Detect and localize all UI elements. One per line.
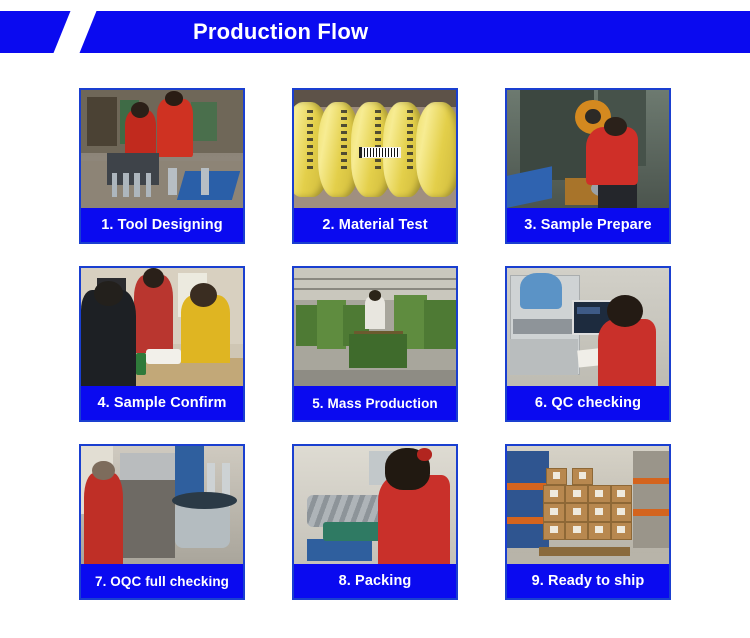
scene-sample-prepare xyxy=(507,90,669,212)
scene-ready-to-ship xyxy=(507,446,669,568)
step-caption-5: 5. Mass Production xyxy=(294,386,456,420)
step-card-8[interactable]: 8. Packing xyxy=(292,444,458,600)
step-card-7[interactable]: 7. OQC full checking xyxy=(79,444,245,600)
step-card-3[interactable]: 3. Sample Prepare xyxy=(505,88,671,244)
page-header: Production Flow xyxy=(0,11,750,53)
step-card-4[interactable]: 4. Sample Confirm xyxy=(79,266,245,422)
scene-packing xyxy=(294,446,456,568)
page-title: Production Flow xyxy=(193,11,368,53)
header-blue-bar xyxy=(0,11,750,53)
step-card-2[interactable]: 2. Material Test xyxy=(292,88,458,244)
step-caption-8: 8. Packing xyxy=(294,564,456,598)
step-card-6[interactable]: 6. QC checking xyxy=(505,266,671,422)
step-caption-1: 1. Tool Designing xyxy=(81,208,243,242)
step-caption-3: 3. Sample Prepare xyxy=(507,208,669,242)
scene-mass-production xyxy=(294,268,456,390)
step-photo-3 xyxy=(507,90,669,212)
step-photo-2 xyxy=(294,90,456,212)
step-caption-4: 4. Sample Confirm xyxy=(81,386,243,420)
step-photo-5 xyxy=(294,268,456,390)
step-caption-7: 7. OQC full checking xyxy=(81,564,243,598)
step-photo-4 xyxy=(81,268,243,390)
scene-sample-confirm xyxy=(81,268,243,390)
scene-oqc-full-checking xyxy=(81,446,243,568)
step-photo-9 xyxy=(507,446,669,568)
step-caption-9: 9. Ready to ship xyxy=(507,564,669,598)
scene-material-test xyxy=(294,90,456,212)
step-card-1[interactable]: 1. Tool Designing xyxy=(79,88,245,244)
step-photo-1 xyxy=(81,90,243,212)
step-photo-6 xyxy=(507,268,669,390)
step-caption-6: 6. QC checking xyxy=(507,386,669,420)
step-card-5[interactable]: 5. Mass Production xyxy=(292,266,458,422)
step-photo-7 xyxy=(81,446,243,568)
production-flow-grid: 1. Tool Designing 2. Material Test xyxy=(0,88,750,600)
scene-qc-checking xyxy=(507,268,669,390)
scene-tool-designing xyxy=(81,90,243,212)
step-card-9[interactable]: 9. Ready to ship xyxy=(505,444,671,600)
step-caption-2: 2. Material Test xyxy=(294,208,456,242)
step-photo-8 xyxy=(294,446,456,568)
